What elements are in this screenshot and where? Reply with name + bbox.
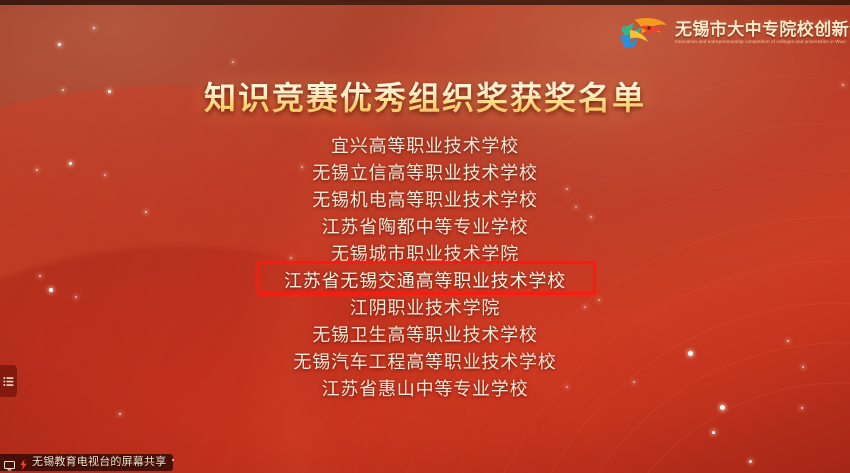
award-list-item: 宜兴高等职业技术学校 xyxy=(331,133,519,160)
page-title: 知识竞赛优秀组织奖获奖名单 xyxy=(0,78,850,118)
screen-share-label: 无锡教育电视台的屏幕共享 xyxy=(32,457,166,468)
award-list-item: 江苏省陶都中等专业学校 xyxy=(322,214,529,241)
screen-share-status-bar: 无锡教育电视台的屏幕共享 xyxy=(0,454,173,471)
monitor-icon xyxy=(4,458,15,468)
competition-logo-text: 无锡市大中专院校创新创业大赛 Innovation and entreprene… xyxy=(675,21,850,45)
competition-logo: 无锡市大中专院校创新创业大赛 Innovation and entreprene… xyxy=(618,13,850,53)
award-list-item: 无锡机电高等职业技术学校 xyxy=(312,187,538,214)
list-menu-icon xyxy=(3,376,14,387)
screen-share-icon xyxy=(19,457,28,468)
award-list-item: 江阴职业技术学院 xyxy=(350,295,500,322)
award-list: 宜兴高等职业技术学校无锡立信高等职业技术学校无锡机电高等职业技术学校江苏省陶都中… xyxy=(0,133,850,403)
award-list-item: 无锡城市职业技术学院 xyxy=(331,241,519,268)
award-list-item: 江苏省惠山中等专业学校 xyxy=(322,376,529,403)
share-bar-dot xyxy=(172,459,174,461)
competition-name-cn: 无锡市大中专院校创新创业大赛 xyxy=(675,21,850,39)
award-list-item: 无锡汽车工程高等职业技术学校 xyxy=(293,349,556,376)
competition-name-en: Innovation and entrepreneurship competit… xyxy=(675,39,850,46)
screen-share-stage: 无锡市大中专院校创新创业大赛 Innovation and entreprene… xyxy=(0,0,850,473)
screen-share-top-strip xyxy=(0,0,850,5)
award-list-item: 无锡立信高等职业技术学校 xyxy=(312,160,538,187)
award-list-item: 江苏省无锡交通高等职业技术学校 xyxy=(284,268,566,295)
award-list-item: 无锡卫生高等职业技术学校 xyxy=(312,322,538,349)
flame-bird-emblem-icon xyxy=(618,14,670,52)
edge-menu-button[interactable] xyxy=(0,365,17,397)
